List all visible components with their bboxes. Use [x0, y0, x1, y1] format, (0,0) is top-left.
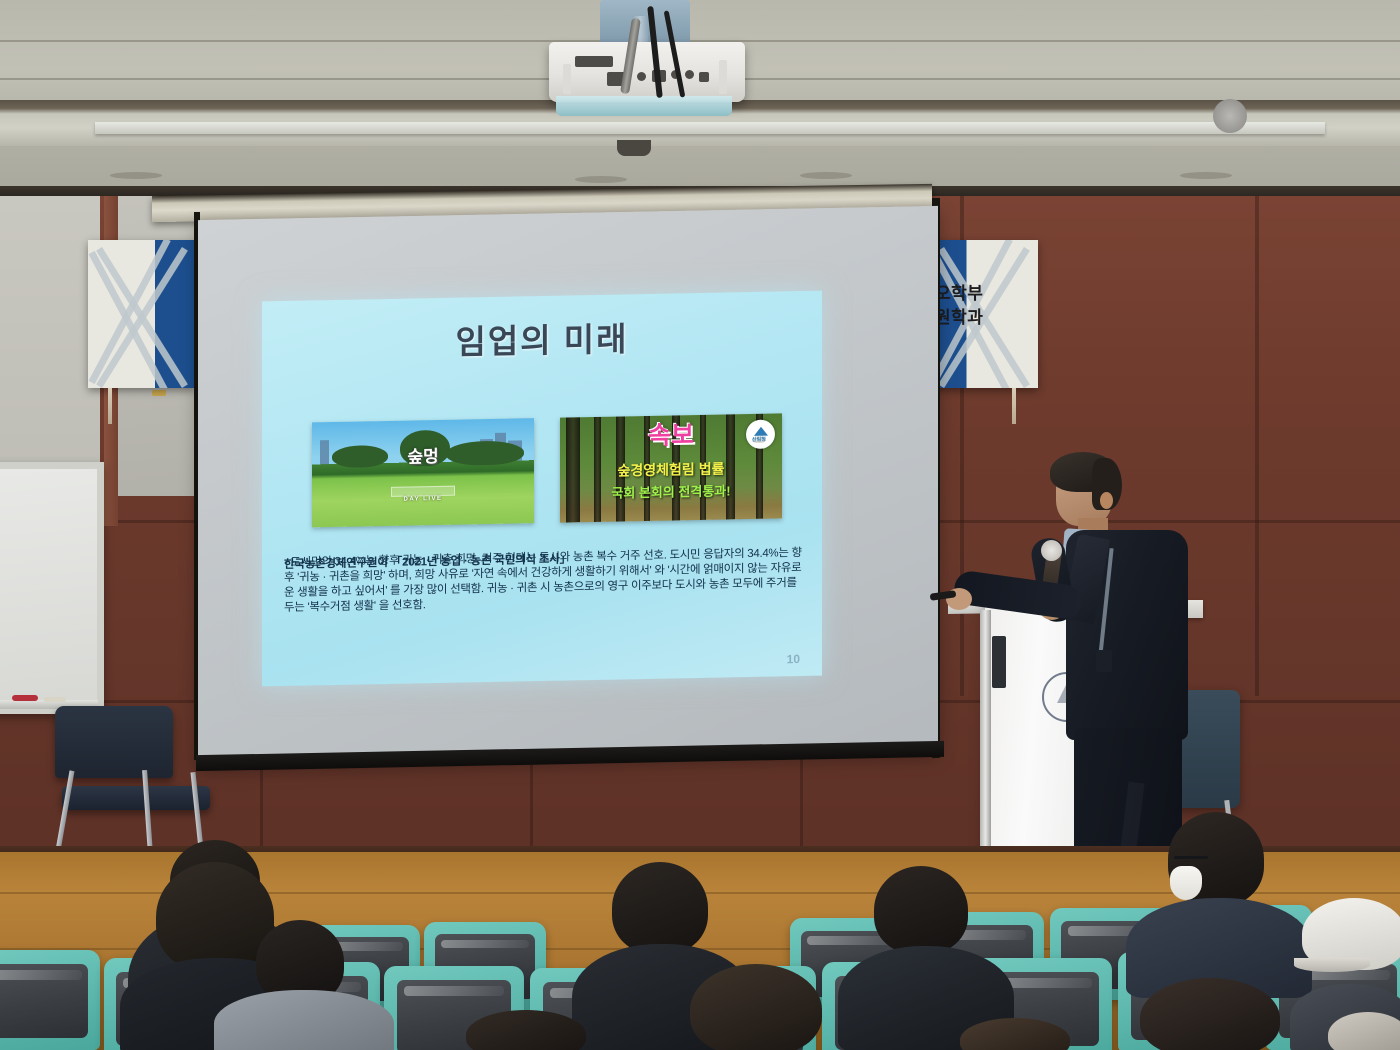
banner-line-1: 오학부 [935, 282, 983, 306]
cap-brim-icon [1294, 958, 1370, 972]
news-headline: 속보 [648, 423, 694, 449]
seat-highlight [0, 970, 82, 980]
projected-slide: 임업의 미래 숲멍 DAY LIVE [262, 291, 822, 687]
projector-port [637, 72, 646, 81]
ceiling-speaker-icon [617, 140, 651, 156]
tree-cluster [332, 445, 388, 468]
wall-panel-seam [1255, 196, 1259, 696]
news-line-2: 숲경영체험림 법률 [618, 458, 725, 480]
projector-port [685, 70, 694, 79]
wall-banner-left [88, 240, 196, 388]
ceiling-vent [575, 176, 627, 183]
projector-lens-glow [556, 96, 732, 116]
wall-banner-right: 오학부 원학과 [930, 240, 1038, 388]
slide-page-number: 10 [787, 652, 800, 666]
face-mask-icon [1170, 866, 1202, 900]
tree-trunk [566, 417, 580, 522]
audience-head [874, 866, 968, 954]
ceiling-vent [800, 172, 852, 179]
slide-title: 임업의 미래 [262, 309, 822, 368]
park-overlay-chip [391, 486, 455, 497]
projector-slot [719, 60, 727, 94]
logo-mountain-icon [754, 427, 768, 436]
seat-highlight [441, 940, 529, 949]
audience-shoulders [214, 990, 394, 1050]
slide-image-park: 숲멍 DAY LIVE [312, 418, 534, 527]
audience-seat[interactable] [0, 950, 100, 1050]
ceiling-vent [110, 172, 162, 179]
projector-vent [575, 56, 613, 67]
ceiling-vent [1180, 172, 1232, 179]
seat-highlight [404, 986, 505, 996]
slide-image-row: 숲멍 DAY LIVE 속보 숲경영체험림 법률 국회 본회의 전격통과! [312, 413, 782, 527]
presenter-ear [1100, 492, 1113, 509]
projector-slot [563, 64, 571, 94]
skyline-building [320, 440, 329, 464]
banner-line-2: 원학과 [935, 306, 983, 330]
banner-tassel [1012, 388, 1016, 424]
lecture-hall-photo: 오학부 원학과 임업의 미래 숲멍 DAY LIVE [0, 0, 1400, 1050]
stacking-chair-seat[interactable] [62, 786, 210, 810]
projector-fan-grille [1213, 99, 1247, 133]
glasses-icon [1174, 856, 1208, 859]
tree-trunk [594, 417, 601, 522]
slide-image-forest-news: 속보 숲경영체험림 법률 국회 본회의 전격통과! 산림청 [560, 413, 782, 522]
audience-head [690, 964, 822, 1050]
tree-trunk [726, 414, 735, 519]
banner-tassel [108, 388, 112, 424]
red-marker[interactable] [12, 695, 38, 701]
projector-port [699, 72, 709, 82]
door-handle[interactable] [152, 390, 166, 396]
park-overlay-subtext: DAY LIVE [403, 496, 442, 503]
banner-text-right: 오학부 원학과 [935, 282, 983, 330]
microphone-head-icon[interactable] [1041, 540, 1062, 561]
soffit-lip [95, 122, 1325, 134]
stacking-chair-back[interactable] [55, 706, 173, 778]
ceiling-projector [549, 42, 745, 102]
park-overlay-text: 숲멍 [407, 448, 438, 466]
audience-head [612, 862, 708, 954]
mobile-whiteboard[interactable] [0, 462, 104, 714]
audience-head [1140, 978, 1280, 1050]
logo-caption: 산림청 [752, 436, 766, 443]
news-line-3: 국회 본회의 전격통과! [611, 480, 730, 501]
forest-service-logo-icon: 산림청 [746, 420, 775, 450]
slide-body-text: 한국농촌경제연구원이 「2021년 농업 · 농촌 국민의식 조사」 - 도시민… [284, 546, 804, 616]
tree-cluster [446, 440, 524, 465]
eraser[interactable] [44, 697, 66, 702]
presenter-badge [1096, 650, 1112, 672]
